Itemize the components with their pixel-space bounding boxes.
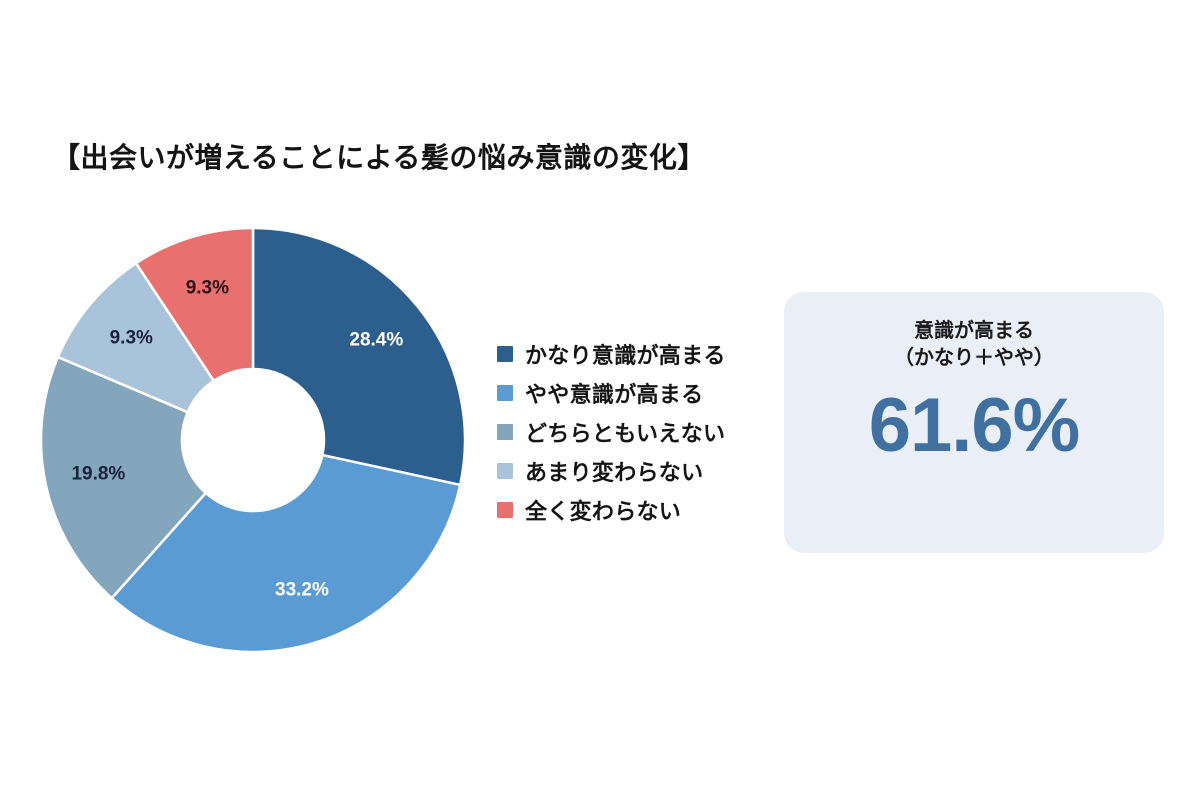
- donut-slice[interactable]: [253, 228, 465, 485]
- donut-chart-svg: 28.4%33.2%19.8%9.3%9.3%: [38, 225, 468, 655]
- chart-legend: かなり意識が高まるやや意識が高まるどちらともいえないあまり変わらない全く変わらな…: [497, 340, 726, 524]
- summary-callout-card: 意識が高まる （かなり＋やや） 61.6%: [784, 292, 1164, 553]
- donut-slice-value-label: 9.3%: [186, 277, 229, 298]
- legend-item-label: かなり意識が高まる: [525, 338, 726, 370]
- legend-item-label: やや意識が高まる: [525, 377, 703, 409]
- legend-item-label: どちらともいえない: [525, 416, 725, 448]
- legend-color-swatch: [497, 502, 513, 518]
- donut-slice-value-label: 9.3%: [110, 328, 153, 349]
- donut-slice-value-label: 19.8%: [71, 464, 125, 485]
- legend-color-swatch: [497, 346, 513, 362]
- donut-slice-value-label: 28.4%: [349, 330, 403, 351]
- legend-color-swatch: [497, 424, 513, 440]
- legend-item-label: あまり変わらない: [525, 455, 703, 487]
- legend-item[interactable]: やや意識が高まる: [497, 379, 726, 407]
- donut-chart: 28.4%33.2%19.8%9.3%9.3%: [38, 225, 468, 655]
- donut-slice-group: [41, 228, 465, 652]
- legend-item-label: 全く変わらない: [525, 494, 681, 526]
- donut-slice-value-label: 33.2%: [275, 580, 329, 601]
- legend-item[interactable]: 全く変わらない: [497, 496, 726, 524]
- legend-item[interactable]: あまり変わらない: [497, 457, 726, 485]
- legend-item[interactable]: かなり意識が高まる: [497, 340, 726, 368]
- legend-color-swatch: [497, 463, 513, 479]
- legend-color-swatch: [497, 385, 513, 401]
- legend-item[interactable]: どちらともいえない: [497, 418, 726, 446]
- page-title: 【出会いが増えることによる髪の悩み意識の変化】: [52, 136, 706, 176]
- summary-callout-heading: 意識が高まる （かなり＋やや）: [894, 318, 1054, 372]
- summary-callout-value: 61.6%: [869, 388, 1080, 464]
